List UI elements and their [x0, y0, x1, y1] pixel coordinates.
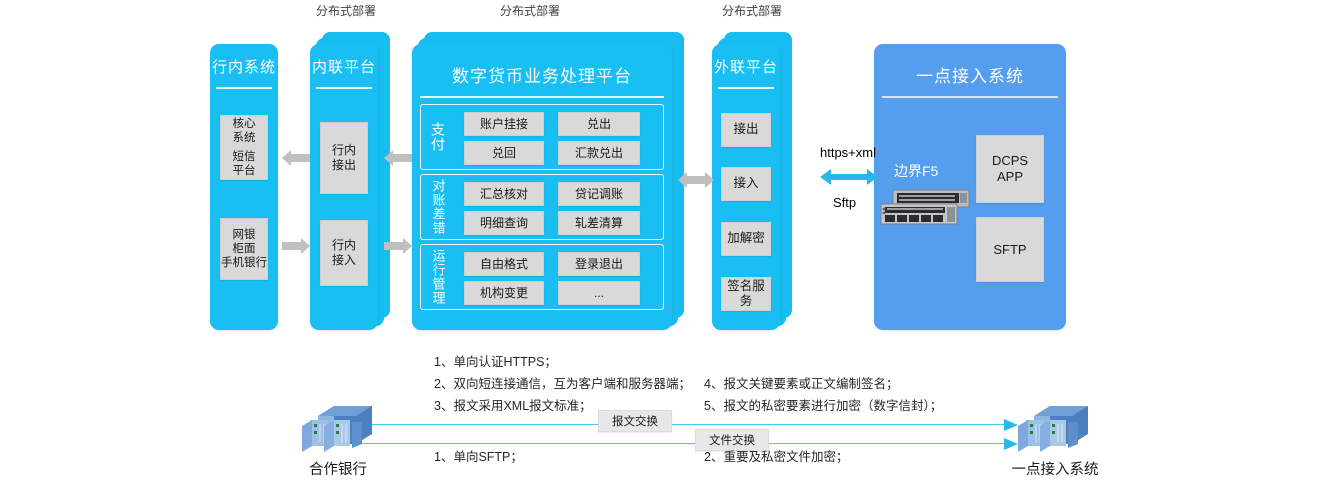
group-operations-label: 运行管理: [428, 246, 448, 308]
panel-divider: [882, 96, 1058, 98]
message-exchange-line: [352, 424, 1008, 425]
arrow-right-intrabank-to-intranet: [282, 238, 310, 254]
protocol-label-sftp: Sftp: [833, 195, 856, 210]
service-box-encrypt-decrypt[interactable]: 加解密: [721, 222, 771, 256]
panel-intra-bank-system-title: 行内系统: [210, 56, 278, 77]
single-access-server-icon: [1010, 400, 1096, 456]
file-note-1: 1、单向SFTP；: [434, 447, 523, 468]
box-line: 行内: [332, 143, 356, 158]
service-box-ebank-counter-mobile[interactable]: 网银 柜面 手机银行: [220, 218, 268, 280]
service-box-intra-bank-outbound[interactable]: 行内 接出: [320, 122, 368, 194]
box-line: APP: [997, 169, 1023, 185]
file-note-2: 2、重要及私密文件加密；: [704, 447, 848, 468]
service-box-signature-service[interactable]: 签名服务: [721, 277, 771, 311]
group-payment-label: 支付: [428, 106, 448, 168]
box-line: 柜面: [233, 242, 256, 256]
single-access-system-caption: 一点接入系统: [1000, 458, 1110, 479]
box-line: 平台: [233, 164, 256, 178]
message-note-1: 1、单向认证HTTPS；: [434, 352, 557, 373]
box-line: 网银: [233, 228, 256, 242]
service-box-free-format[interactable]: 自由格式: [464, 252, 544, 276]
arrow-bidirectional-dcep-external: [678, 172, 714, 188]
message-note-5: 5、报文的私密要素进行加密（数字信封）；: [704, 396, 942, 417]
architecture-diagram: 分布式部署 分布式部署 分布式部署 行内系统 核心 系统 短信 平台 网银 柜面…: [0, 0, 1333, 483]
service-box-dcps-app[interactable]: DCPS APP: [976, 135, 1044, 203]
box-line: 行内: [332, 238, 356, 253]
panel-divider: [420, 96, 664, 98]
box-line: 接入: [332, 253, 356, 268]
panel-single-access-system-title: 一点接入系统: [874, 62, 1066, 87]
service-box-account-link[interactable]: 账户挂接: [464, 112, 544, 136]
box-line: 接出: [332, 158, 356, 173]
panel-divider: [316, 87, 372, 89]
group-reconciliation-label: 对账差错: [428, 176, 448, 238]
box-line: 手机银行: [221, 256, 267, 270]
link-arrow-external-to-access: [820, 168, 878, 186]
panel-divider: [216, 87, 272, 89]
panel-divider: [718, 87, 774, 89]
distributed-deployment-label-1: 分布式部署: [306, 4, 386, 18]
message-note-3: 3、报文采用XML报文标准；: [434, 396, 592, 417]
file-exchange-line: [348, 443, 1008, 444]
boundary-f5-label: 边界F5: [894, 161, 938, 181]
service-box-more[interactable]: ...: [558, 281, 640, 305]
message-note-4: 4、报文关键要素或正文编制签名；: [704, 374, 898, 395]
service-box-core-system[interactable]: 核心 系统 短信 平台: [220, 115, 268, 180]
arrow-right-intranet-to-dcep: [384, 238, 412, 254]
panel-dcep-platform-title: 数字货币业务处理平台: [412, 62, 672, 87]
arrow-left-dcep-to-intranet: [384, 150, 412, 166]
box-line: 核心: [233, 117, 256, 131]
service-box-exchange-back[interactable]: 兑回: [464, 141, 544, 165]
box-line: DCPS: [992, 153, 1028, 169]
service-box-netting-settlement[interactable]: 轧差清算: [558, 211, 640, 235]
service-box-remittance-exchange-out[interactable]: 汇款兑出: [558, 141, 640, 165]
protocol-label-https-xml: https+xml: [820, 145, 876, 160]
arrow-left-intranet-to-intrabank: [282, 150, 310, 166]
tag-message-exchange: 报文交换: [598, 410, 672, 432]
f5-appliance-icon: [875, 188, 975, 232]
service-box-intra-bank-inbound[interactable]: 行内 接入: [320, 220, 368, 286]
service-box-ext-inbound[interactable]: 接入: [721, 167, 771, 201]
partner-bank-server-icon: [294, 400, 380, 456]
panel-intranet-platform-title: 内联平台: [310, 56, 378, 77]
service-box-org-change[interactable]: 机构变更: [464, 281, 544, 305]
box-line: 系统: [233, 131, 256, 145]
service-box-exchange-out[interactable]: 兑出: [558, 112, 640, 136]
distributed-deployment-label-2: 分布式部署: [490, 4, 570, 18]
message-note-2: 2、双向短连接通信，互为客户端和服务器端；: [434, 374, 691, 395]
box-line: 短信: [233, 150, 256, 164]
service-box-sftp[interactable]: SFTP: [976, 217, 1044, 282]
service-box-credit-adjust[interactable]: 贷记调账: [558, 182, 640, 206]
service-box-ext-outbound[interactable]: 接出: [721, 113, 771, 147]
service-box-summary-check[interactable]: 汇总核对: [464, 182, 544, 206]
service-box-login-logout[interactable]: 登录退出: [558, 252, 640, 276]
panel-external-platform-title: 外联平台: [712, 56, 780, 77]
partner-bank-caption: 合作银行: [290, 458, 386, 479]
service-box-detail-query[interactable]: 明细查询: [464, 211, 544, 235]
panel-intra-bank-system: 行内系统: [210, 44, 278, 330]
distributed-deployment-label-3: 分布式部署: [712, 4, 792, 18]
